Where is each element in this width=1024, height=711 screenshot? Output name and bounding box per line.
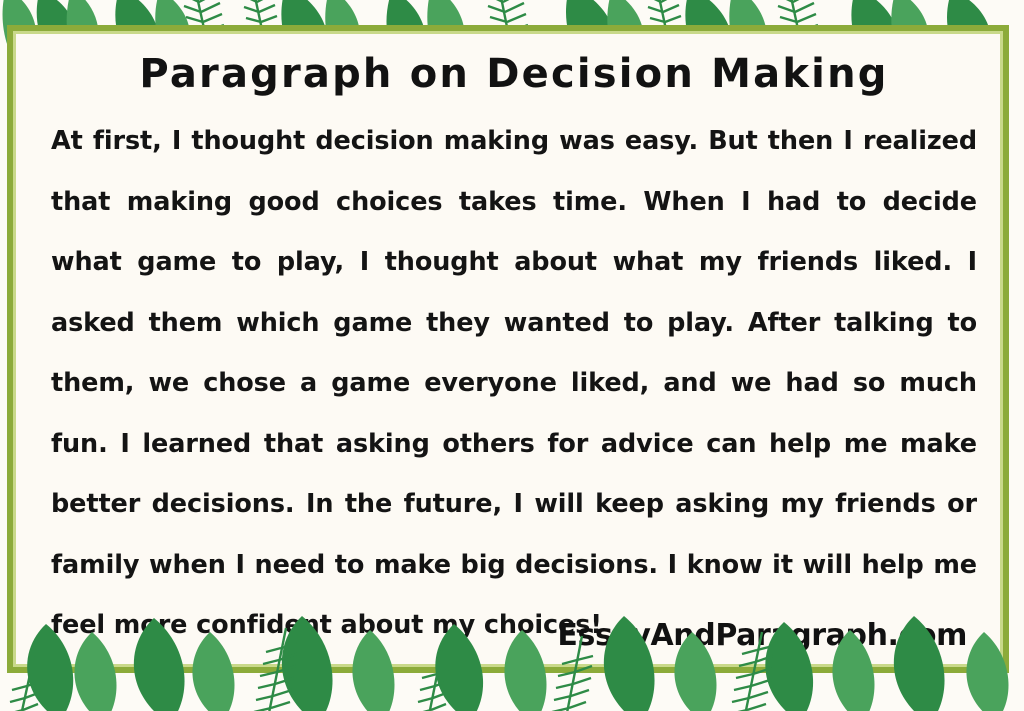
- content-frame: Paragraph on Decision Making At first, I…: [7, 25, 1009, 673]
- card-content: Paragraph on Decision Making At first, I…: [13, 31, 1015, 679]
- site-watermark: EssayAndParagraph.com: [557, 618, 967, 653]
- page-title: Paragraph on Decision Making: [43, 51, 985, 97]
- paragraph-card-image: Paragraph on Decision Making At first, I…: [0, 0, 1024, 711]
- paragraph-body: At first, I thought decision making was …: [43, 111, 985, 656]
